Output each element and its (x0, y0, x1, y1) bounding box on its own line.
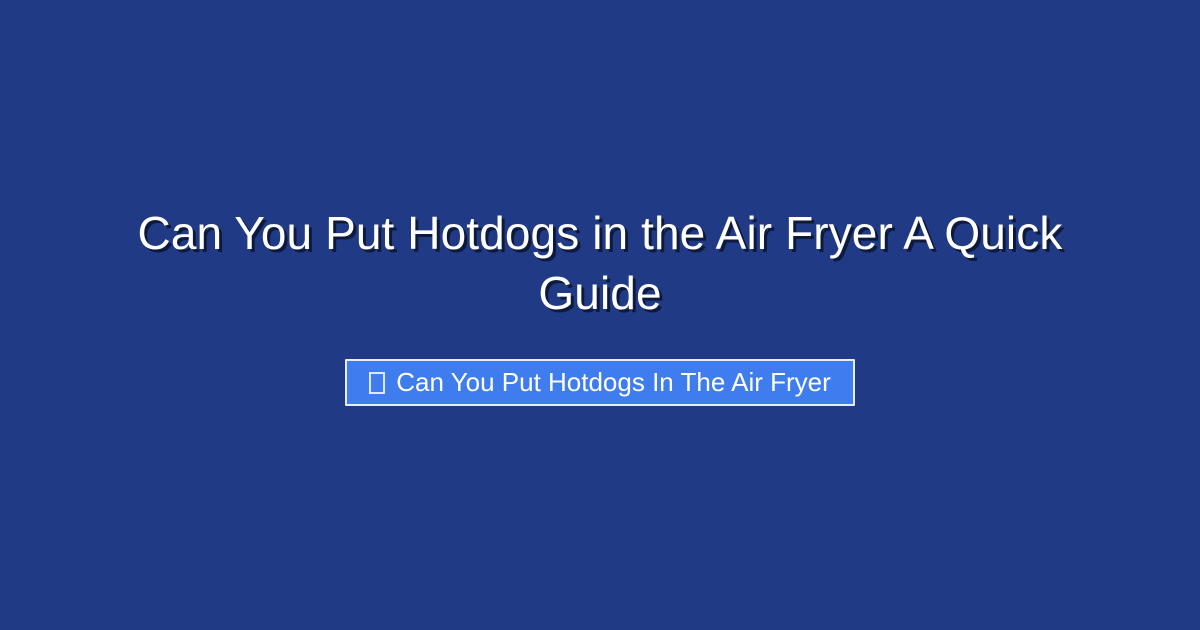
page-title: Can You Put Hotdogs in the Air Fryer A Q… (100, 203, 1100, 323)
cta-container: Can You Put Hotdogs In The Air Fryer (100, 359, 1100, 406)
cta-button[interactable]: Can You Put Hotdogs In The Air Fryer (345, 359, 855, 406)
social-share-card: Can You Put Hotdogs in the Air Fryer A Q… (0, 0, 1200, 630)
cta-button-label: Can You Put Hotdogs In The Air Fryer (396, 369, 831, 395)
card-content-stack: Can You Put Hotdogs in the Air Fryer A Q… (100, 203, 1100, 406)
missing-glyph-box-icon (369, 372, 385, 394)
